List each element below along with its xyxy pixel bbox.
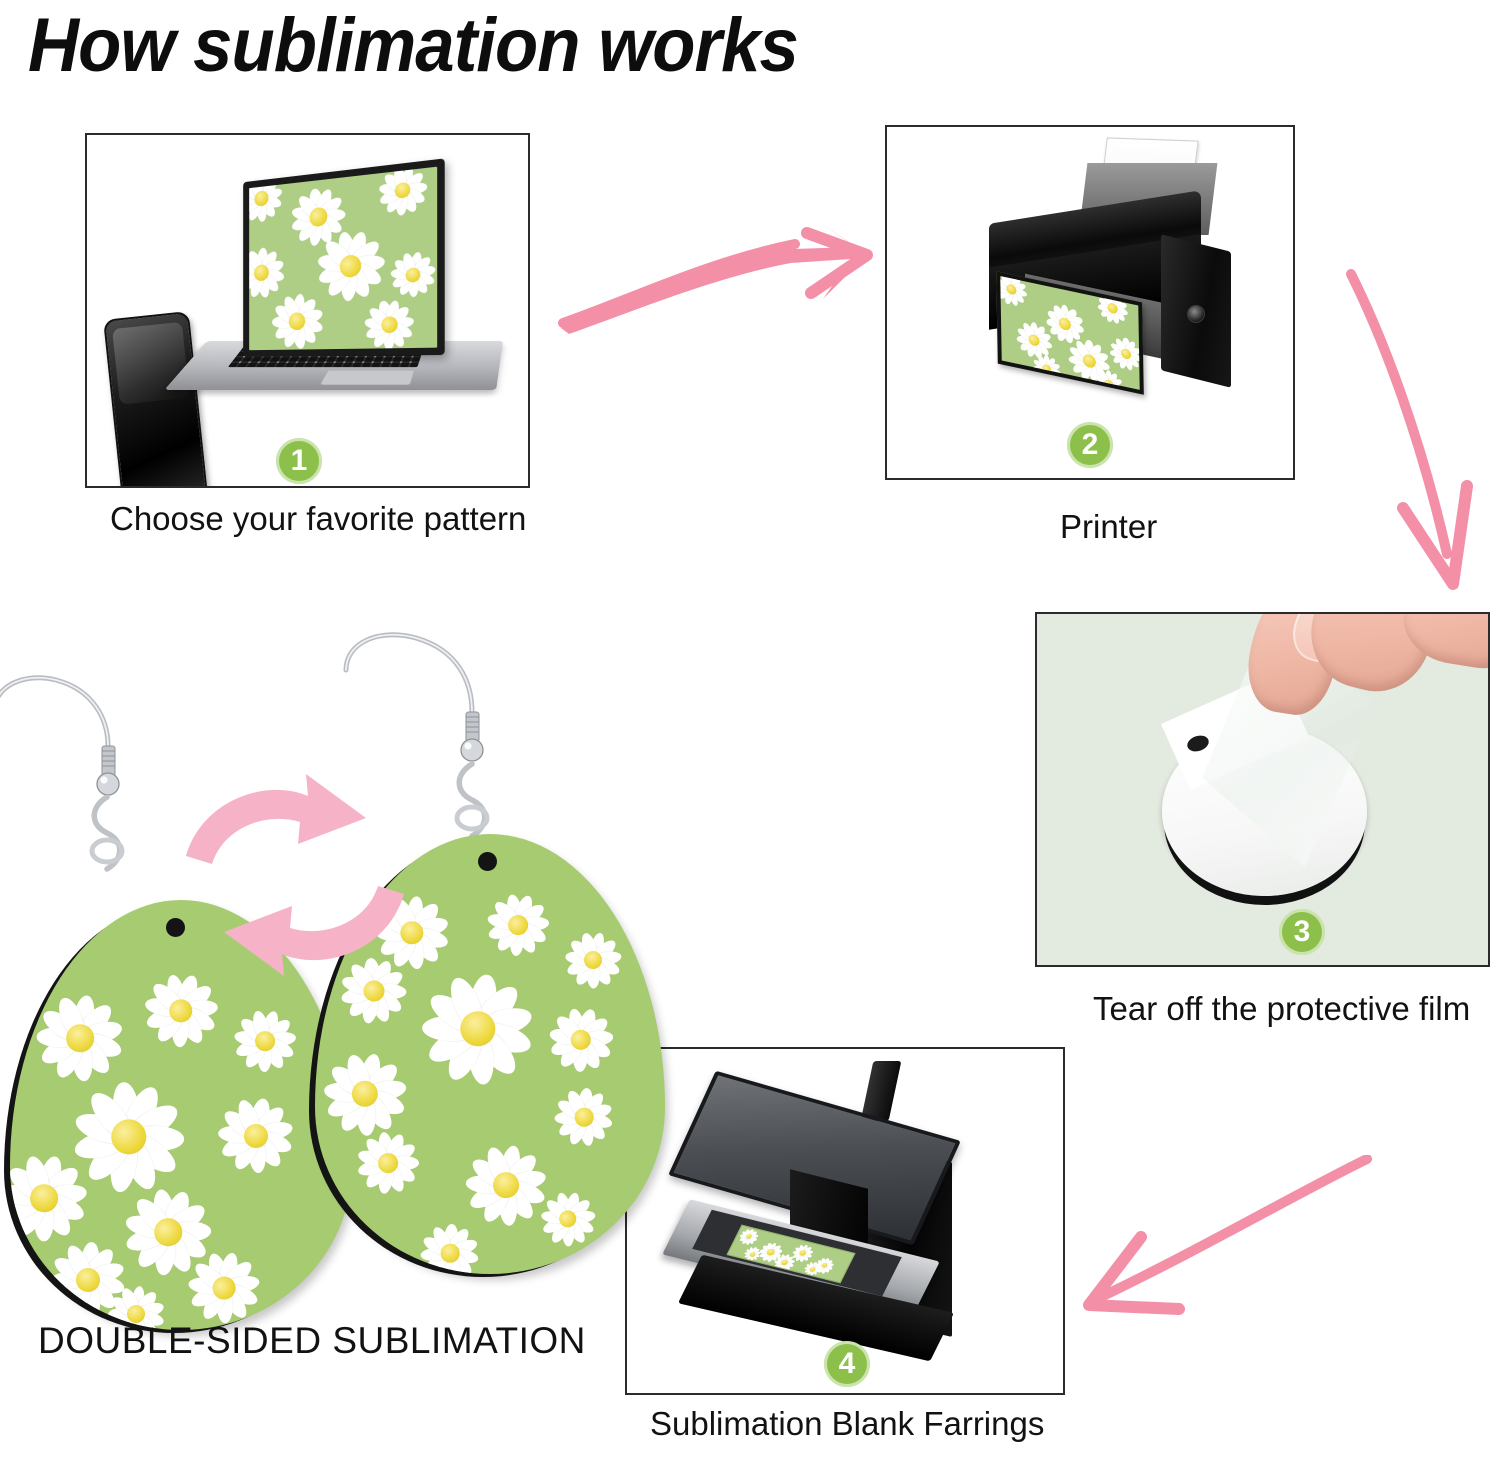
step-4-badge: 4 [824, 1341, 870, 1387]
step-1-caption: Choose your favorite pattern [110, 500, 526, 538]
heat-press-graphic [672, 1059, 1022, 1359]
daisy-flower-icon [267, 289, 329, 350]
step-3-caption: Tear off the protective film [1093, 990, 1470, 1028]
hand-graphic [1229, 612, 1490, 742]
step-2-panel: 2 [885, 125, 1295, 480]
laptop-screen-daisy-pattern [249, 167, 437, 351]
step-3-badge: 3 [1279, 909, 1325, 955]
step-4-caption: Sublimation Blank Farrings [650, 1405, 1044, 1443]
printer-graphic [965, 139, 1265, 439]
daisy-flower-icon [223, 999, 306, 1082]
smartphone-graphic [103, 311, 209, 488]
daisy-flower-icon [1093, 366, 1124, 395]
daisy-flower-icon [550, 1083, 618, 1151]
daisy-flower-icon [479, 886, 557, 964]
page-title: How sublimation works [28, 2, 798, 89]
daisy-flower-icon [996, 271, 1029, 310]
step-1-panel: 1 [85, 133, 530, 488]
arrow-step3-to-step4 [1075, 1155, 1375, 1340]
daisy-center [440, 1243, 460, 1263]
step-4-panel: 4 [625, 1047, 1065, 1395]
earring-jump-ring-left [76, 795, 146, 880]
arrow-step2-to-step3 [1335, 268, 1500, 608]
daisy-flower-icon [1031, 351, 1062, 388]
pendant-hole-right [478, 852, 497, 871]
daisy-flower-icon [417, 1220, 483, 1274]
daisy-flower-icon [209, 1089, 304, 1184]
daisy-flower-icon [540, 999, 622, 1081]
swap-arrows [180, 760, 410, 990]
step-2-badge: 2 [1067, 422, 1113, 468]
daisy-flower-icon [351, 1126, 426, 1201]
printer-power-button[interactable] [1187, 305, 1205, 323]
step-1-badge: 1 [276, 438, 322, 484]
laptop-graphic [207, 171, 507, 436]
swap-arrow-bottom-icon [224, 886, 404, 976]
swap-arrow-top-icon [186, 774, 366, 864]
laptop-lid [243, 158, 445, 357]
laptop-trackpad [320, 370, 416, 385]
press-hinge-arm [861, 1061, 902, 1121]
step-2-caption: Printer [1060, 508, 1157, 546]
daisy-flower-icon [556, 923, 630, 997]
daisy-flower-icon [249, 171, 288, 226]
daisy-flower-icon [410, 961, 547, 1098]
daisy-flower-icon [27, 985, 134, 1092]
earring-hook-left [0, 650, 100, 770]
earring-hook-right [340, 612, 450, 732]
daisy-flower-icon [736, 1226, 762, 1246]
daisy-flower-icon [1109, 333, 1144, 374]
earrings-caption: DOUBLE-SIDED SUBLIMATION [38, 1320, 586, 1362]
arrow-step1-to-step2 [555, 215, 885, 365]
daisy-flower-icon [370, 167, 436, 223]
step-3-panel: 3 [1035, 612, 1490, 967]
infographic-canvas: How sublimation works 1 Choose your favo… [0, 0, 1500, 1457]
